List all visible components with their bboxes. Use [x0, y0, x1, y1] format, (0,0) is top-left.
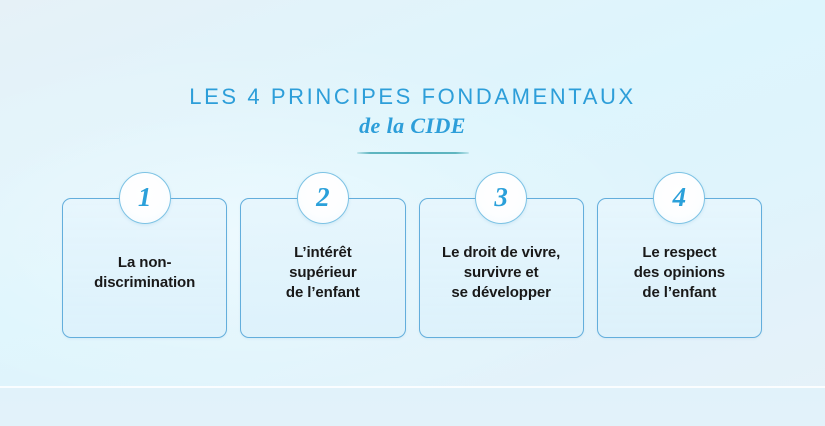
badge-number-label: 2: [316, 184, 330, 211]
principle-card-list: La non- discrimination L’intérêt supérie…: [62, 198, 762, 338]
principle-card-label: L’intérêt supérieur de l’enfant: [286, 243, 360, 303]
header: LES 4 PRINCIPES FONDAMENTAUX de la CIDE: [0, 84, 825, 154]
number-badge-3[interactable]: 3: [475, 172, 527, 224]
page-subtitle: de la CIDE: [0, 113, 825, 139]
title-divider-rule: [357, 152, 469, 154]
badge-number-label: 1: [138, 184, 152, 211]
number-badge-1[interactable]: 1: [119, 172, 171, 224]
principle-card-label: Le droit de vivre, survivre et se dévelo…: [442, 243, 560, 303]
bottom-band: [0, 388, 825, 426]
principle-card-label: La non- discrimination: [94, 253, 195, 293]
infographic-canvas: LES 4 PRINCIPES FONDAMENTAUX de la CIDE …: [0, 0, 825, 426]
principle-card-label: Le respect des opinions de l’enfant: [634, 243, 725, 303]
number-badge-4[interactable]: 4: [653, 172, 705, 224]
badge-number-label: 4: [673, 184, 687, 211]
badge-number-label: 3: [494, 184, 508, 211]
page-title: LES 4 PRINCIPES FONDAMENTAUX: [0, 84, 825, 110]
number-badge-2[interactable]: 2: [297, 172, 349, 224]
